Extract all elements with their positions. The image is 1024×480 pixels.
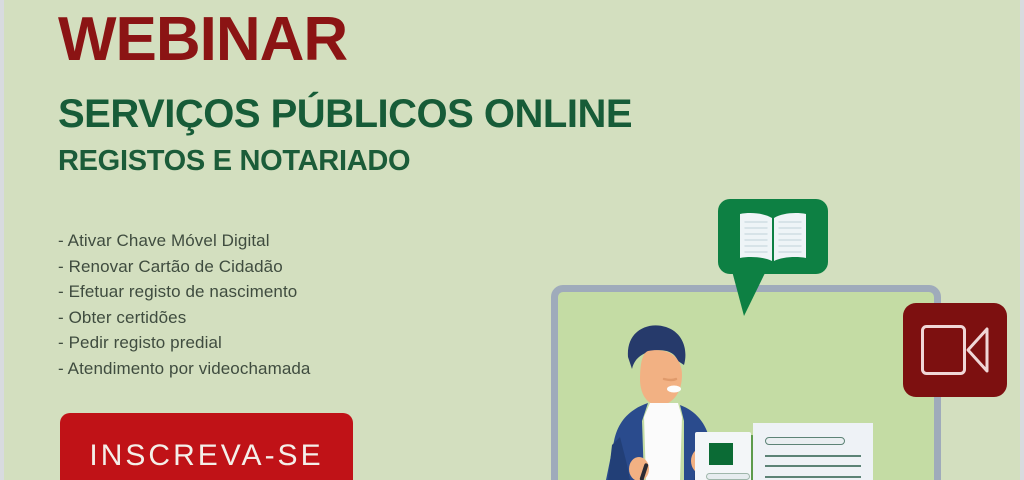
video-call-badge <box>903 303 1007 397</box>
list-item: - Ativar Chave Móvel Digital <box>58 228 311 254</box>
topics-list: - Ativar Chave Móvel Digital - Renovar C… <box>58 228 311 381</box>
document-line <box>765 455 861 457</box>
list-item: - Renovar Cartão de Cidadão <box>58 254 311 280</box>
page-title: WEBINAR <box>58 8 347 72</box>
document-line <box>765 476 861 478</box>
list-item: - Pedir registo predial <box>58 330 311 356</box>
document-line <box>765 465 861 467</box>
list-item: - Efetuar registo de nascimento <box>58 279 311 305</box>
video-camera-icon <box>921 325 989 375</box>
document-card <box>753 423 873 480</box>
sub-subtitle: REGISTOS E NOTARIADO <box>58 145 410 177</box>
illustration <box>540 185 1024 480</box>
register-button[interactable]: INSCREVA-SE <box>60 413 353 480</box>
open-book-icon <box>736 211 810 263</box>
image-card-caption-bar <box>706 473 750 480</box>
speech-bubble-tail <box>732 271 766 316</box>
list-item: - Obter certidões <box>58 305 311 331</box>
document-title-bar <box>765 437 845 445</box>
register-button-label: INSCREVA-SE <box>60 439 353 473</box>
webinar-poster: WEBINAR SERVIÇOS PÚBLICOS ONLINE REGISTO… <box>0 0 1024 480</box>
list-item: - Atendimento por videochamada <box>58 356 311 382</box>
image-card-thumbnail <box>709 443 733 465</box>
left-edge-strip <box>0 0 4 480</box>
subtitle: SERVIÇOS PÚBLICOS ONLINE <box>58 92 632 136</box>
